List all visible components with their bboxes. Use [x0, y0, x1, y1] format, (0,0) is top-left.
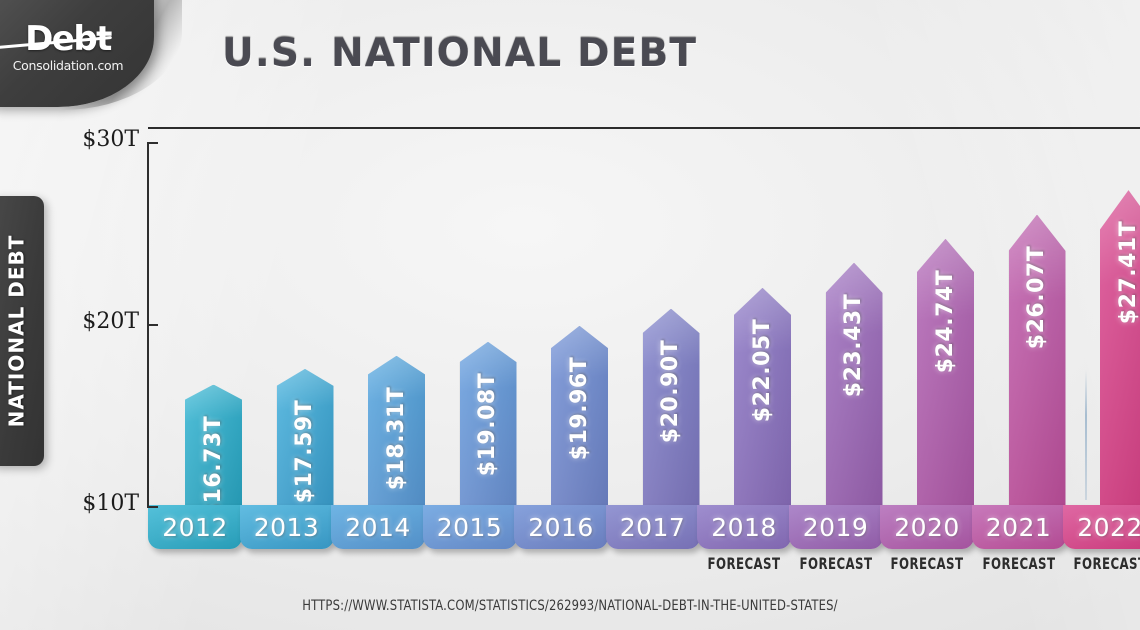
bar-value-text: $26.07T [1025, 245, 1050, 348]
y-tick-mark [147, 506, 158, 508]
bar-value-label: $19.08T [460, 356, 517, 437]
logo-wordmark: Debt [4, 22, 132, 56]
year-label-text: 2013 [254, 513, 320, 542]
year-label-text: 2017 [620, 513, 686, 542]
bar-shaft[interactable]: $27.41T [1100, 190, 1140, 505]
source-url: HTTPS://WWW.STATISTA.COM/STATISTICS/2629… [46, 598, 1095, 614]
bar-group[interactable]: $20.90T2017 [643, 143, 700, 563]
year-label-box[interactable]: 2012 [148, 505, 242, 549]
year-label-box[interactable]: 2017 [606, 505, 700, 549]
forecast-label: FORECAST [980, 554, 1057, 573]
bar-value-label: $20.90T [643, 323, 700, 404]
bar-value-text: $23.43T [842, 293, 867, 396]
bar-group[interactable]: $26.07T2021FORECAST [1009, 143, 1066, 563]
bar-value-label: $27.41T [1100, 204, 1140, 285]
y-tick-mark [147, 142, 158, 144]
bar-chart-plot-area: $16.73T2012$17.59T2013$18.31T2014$19.08T… [148, 143, 1110, 563]
y-axis-label: NATIONAL DEBT [0, 196, 44, 466]
y-tick-label: $10T [53, 491, 139, 516]
bar-shaft[interactable]: $18.31T [368, 356, 425, 505]
bar-shaft[interactable]: $16.73T [185, 385, 242, 505]
year-label-text: 2019 [803, 513, 869, 542]
bar-shaft[interactable]: $19.08T [460, 342, 517, 505]
year-label-text: 2015 [437, 513, 503, 542]
forecast-label: FORECAST [888, 554, 965, 573]
year-label-text: 2014 [345, 513, 411, 542]
year-label-box[interactable]: 2019 [789, 505, 883, 549]
bar-value-text: $20.90T [659, 339, 684, 442]
bar-value-label: $19.96T [551, 340, 608, 421]
bar-value-text: $24.74T [933, 270, 958, 373]
bar-value-label: $26.07T [1009, 229, 1066, 310]
bar-value-label: $16.73T [185, 399, 242, 480]
bar-value-text: $19.96T [567, 357, 592, 460]
forecast-label: FORECAST [1071, 554, 1140, 573]
year-label-text: 2022 [1077, 513, 1140, 542]
forecast-label: FORECAST [705, 554, 782, 573]
bar-value-text: $22.05T [750, 319, 775, 422]
bar-value-text: $17.59T [293, 400, 318, 503]
bar-group[interactable]: $18.31T2014 [368, 143, 425, 563]
bar-group[interactable]: $17.59T2013 [277, 143, 334, 563]
bar-group[interactable]: $22.05T2018FORECAST [734, 143, 791, 563]
logo: Debt Consolidation.com [4, 22, 132, 73]
bar-group[interactable]: $24.74T2020FORECAST [917, 143, 974, 563]
bar-group[interactable]: $27.41T2022FORECAST [1100, 143, 1140, 563]
y-tick-label: $30T [53, 127, 139, 152]
bar-value-text: $19.08T [476, 373, 501, 476]
y-tick-label: $20T [53, 309, 139, 334]
y-tick-mark [147, 324, 158, 326]
bar-value-label: $18.31T [368, 370, 425, 451]
logo-subtext: Consolidation.com [4, 58, 132, 73]
bar-value-text: $18.31T [384, 387, 409, 490]
bar-value-text: $16.73T [201, 415, 226, 518]
year-label-box[interactable]: 2022 [1063, 505, 1140, 549]
year-label-box[interactable]: 2015 [423, 505, 517, 549]
forecast-label: FORECAST [797, 554, 874, 573]
page-title: U.S. NATIONAL DEBT [222, 31, 697, 76]
header-divider [148, 127, 1140, 129]
bar-value-label: $24.74T [917, 253, 974, 334]
year-label-text: 2012 [162, 513, 228, 542]
bar-shaft[interactable]: $23.43T [826, 263, 883, 505]
year-label-box[interactable]: 2014 [331, 505, 425, 549]
y-axis-label-text: NATIONAL DEBT [4, 235, 28, 428]
bar-value-label: $22.05T [734, 302, 791, 383]
bar-shaft[interactable]: $26.07T [1009, 215, 1066, 505]
bar-shaft[interactable]: $17.59T [277, 369, 334, 505]
bar-group[interactable]: $19.96T2016 [551, 143, 608, 563]
year-label-text: 2021 [986, 513, 1052, 542]
bar-value-label: $23.43T [826, 277, 883, 358]
year-label-text: 2018 [711, 513, 777, 542]
bar-group[interactable]: $23.43T2019FORECAST [826, 143, 883, 563]
infographic-canvas: Debt Consolidation.com U.S. NATIONAL DEB… [0, 0, 1140, 630]
bar-group[interactable]: $19.08T2015 [460, 143, 517, 563]
bar-value-text: $27.41T [1116, 221, 1140, 324]
year-label-box[interactable]: 2016 [514, 505, 608, 549]
year-label-text: 2016 [528, 513, 594, 542]
bar-shaft[interactable]: $22.05T [734, 288, 791, 505]
year-label-box[interactable]: 2020 [880, 505, 974, 549]
year-label-text: 2020 [894, 513, 960, 542]
bar-shaft[interactable]: $20.90T [643, 309, 700, 505]
year-label-box[interactable]: 2021 [972, 505, 1066, 549]
bar-shaft[interactable]: $19.96T [551, 326, 608, 505]
bar-shaft[interactable]: $24.74T [917, 239, 974, 505]
year-label-box[interactable]: 2013 [240, 505, 334, 549]
bar-value-label: $17.59T [277, 383, 334, 464]
bar-group[interactable]: $16.73T2012 [185, 143, 242, 563]
year-label-box[interactable]: 2018 [697, 505, 791, 549]
